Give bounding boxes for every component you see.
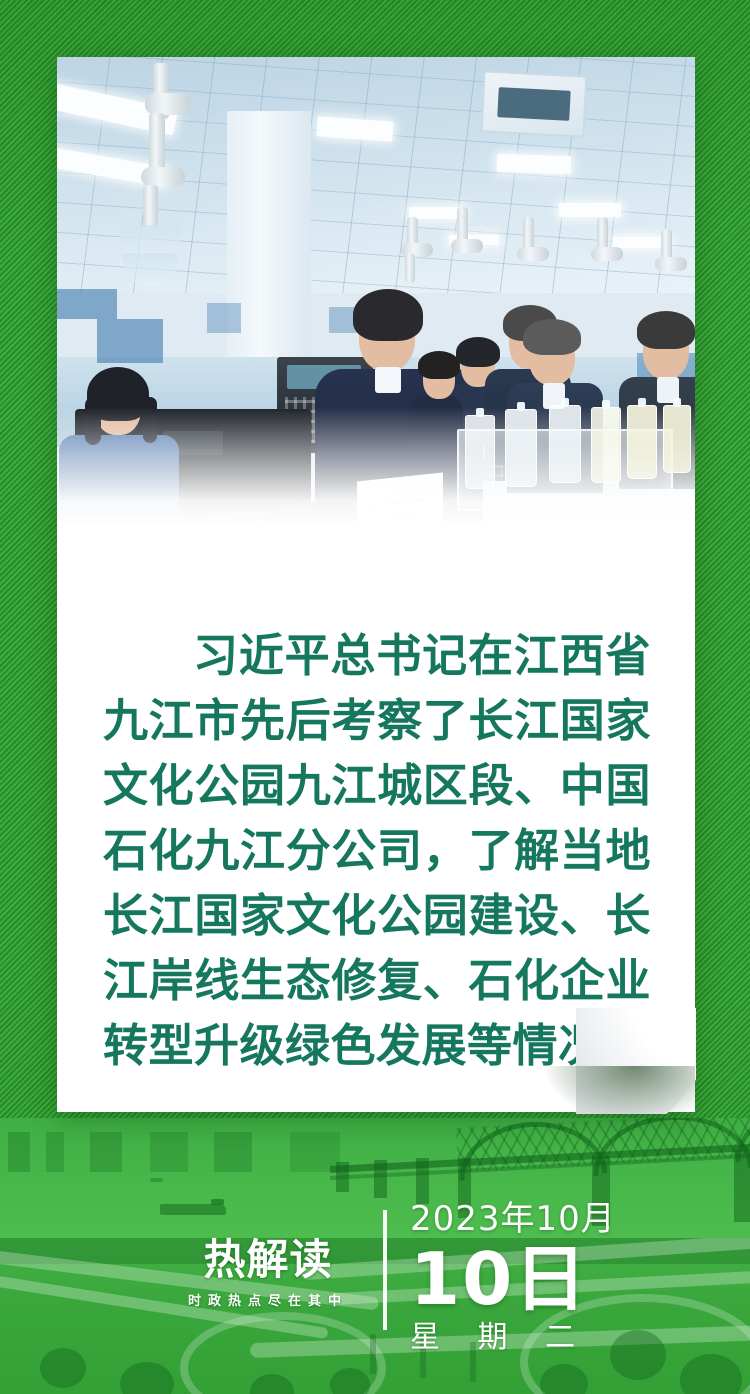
bridge-pier xyxy=(336,1162,349,1192)
content-card: 习近平总书记在江西省九江市先后考察了长江国家文化公园九江城区段、中国石化九江分公… xyxy=(57,57,695,1112)
vertical-divider xyxy=(383,1210,387,1330)
air-conditioner-vent xyxy=(480,70,587,137)
brand-logo[interactable]: 热解读 时政热点尽在其中 xyxy=(188,1236,348,1309)
date-block: 2023年10月 10日 星 期 二 xyxy=(410,1198,640,1358)
brand-logo-subtitle: 时政热点尽在其中 xyxy=(188,1290,348,1309)
date-year-month: 2023年10月 xyxy=(410,1198,640,1240)
card-clip: 习近平总书记在江西省九江市先后考察了长江国家文化公园九江城区段、中国石化九江分公… xyxy=(57,57,695,1112)
bridge-pier xyxy=(374,1160,387,1198)
footer-bar: 热解读 时政热点尽在其中 2023年10月 10日 星 期 二 xyxy=(0,1204,750,1364)
small-boat-icon xyxy=(150,1178,163,1182)
laboratory-photo xyxy=(57,57,695,527)
quote-paragraph: 习近平总书记在江西省九江市先后考察了长江国家文化公园九江城区段、中国石化九江分公… xyxy=(103,623,651,1078)
photo-bottom-fade xyxy=(57,407,695,527)
poster-root: 习近平总书记在江西省九江市先后考察了长江国家文化公园九江城区段、中国石化九江分公… xyxy=(0,0,750,1394)
date-day: 10日 xyxy=(410,1240,640,1318)
brand-logo-title: 热解读 xyxy=(188,1236,348,1284)
date-weekday: 星 期 二 xyxy=(410,1318,640,1358)
